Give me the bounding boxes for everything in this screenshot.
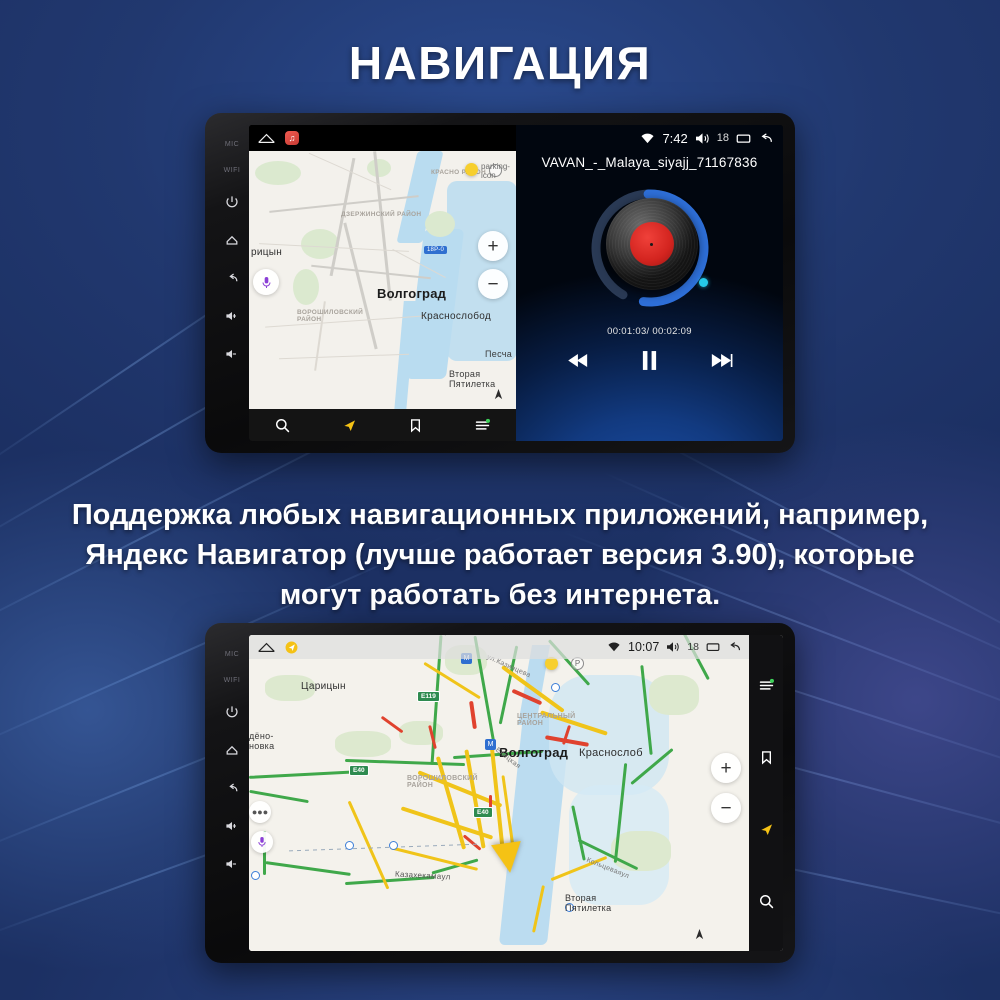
microphone-icon	[261, 276, 272, 289]
compass-icon[interactable]	[694, 928, 705, 941]
music-app-icon[interactable]: ♫	[285, 131, 299, 145]
disc-hole	[650, 243, 653, 246]
back-button[interactable]	[215, 259, 249, 297]
park-area	[335, 731, 391, 757]
menu-icon[interactable]	[758, 677, 775, 694]
volume-down-button[interactable]	[215, 845, 249, 883]
clock-label: 7:42	[662, 131, 687, 146]
district-label-central: ЦЕНТРАЛЬНЫЙ РАЙОН	[517, 713, 571, 727]
screen-bottom: Царицын дёно-новка ВОРОШИЛОВСКИЙ РАЙОН Ц…	[249, 635, 783, 951]
district-label-voroshilovsky: ВОРОШИЛОВСКИЙ РАЙОН	[297, 309, 371, 323]
menu-icon[interactable]	[474, 417, 491, 434]
wifi-led: WIFI	[215, 667, 249, 693]
track-title: VAVAN_-_Malaya_siyajj_71167836	[542, 155, 758, 170]
park-area	[611, 831, 671, 871]
back-icon[interactable]	[727, 641, 741, 653]
disc-label	[630, 222, 674, 266]
label-sadenovka: дёно-новка	[249, 731, 289, 752]
ring-marker	[389, 841, 398, 850]
volume-up-button[interactable]	[215, 297, 249, 335]
speaker-icon	[695, 132, 710, 145]
search-icon[interactable]	[274, 417, 291, 434]
power-button[interactable]	[215, 183, 249, 221]
navigator-app-icon[interactable]	[285, 641, 298, 654]
road-shield-e119: E119	[417, 691, 440, 702]
metro-icon: M	[485, 739, 496, 750]
map-canvas-bottom[interactable]: Царицын дёно-новка ВОРОШИЛОВСКИЙ РАЙОН Ц…	[249, 635, 749, 951]
poi-marker[interactable]	[465, 163, 478, 176]
city-label-volgograd: Волгоград	[377, 286, 446, 301]
current-position-arrow	[491, 841, 525, 875]
park-area	[367, 159, 391, 177]
navigator-fullscreen: Царицын дёно-новка ВОРОШИЛОВСКИЙ РАЙОН Ц…	[249, 635, 783, 951]
road-shield: 18Р-0	[424, 246, 447, 254]
road	[343, 223, 377, 350]
device-side-rail-bottom: MIC WIFI	[215, 635, 249, 951]
town-label-krasnoslobodsk: Краснослобод	[421, 311, 491, 322]
power-button[interactable]	[215, 693, 249, 731]
park-area	[649, 675, 699, 715]
pause-button[interactable]	[641, 350, 658, 371]
navigation-arrow-icon[interactable]	[758, 821, 775, 838]
vinyl-disc	[606, 198, 698, 290]
home-button[interactable]	[215, 221, 249, 259]
volume-up-button[interactable]	[215, 807, 249, 845]
volume-down-button[interactable]	[215, 335, 249, 373]
label-pyatiletka: Вторая Пятилетка	[565, 893, 619, 914]
navigation-arrow-icon[interactable]	[341, 417, 358, 434]
zoom-out-button[interactable]: −	[711, 793, 741, 823]
label-pyatiletka: Вторая Пятилетка	[449, 369, 501, 390]
road-shield-e40: E40	[349, 765, 369, 776]
speaker-icon	[666, 641, 680, 653]
page-title: НАВИГАЦИЯ	[0, 36, 1000, 90]
home-icon[interactable]	[257, 641, 276, 654]
head-unit-device-top: MIC WIFI ♫	[205, 113, 795, 453]
voice-search-button[interactable]	[253, 269, 279, 295]
android-statusbar-bottom: 10:07 18	[249, 635, 749, 659]
zoom-out-button[interactable]: −	[478, 269, 508, 299]
player-controls	[565, 350, 734, 371]
bookmark-icon[interactable]	[407, 417, 424, 434]
next-button[interactable]	[710, 352, 734, 369]
mic-led: MIC	[215, 641, 249, 667]
voice-search-button[interactable]	[251, 831, 273, 853]
zoom-in-button[interactable]: +	[711, 753, 741, 783]
search-icon[interactable]	[758, 893, 775, 910]
map-canvas-top[interactable]: ДЗЕРЖИНСКИЙ РАЙОН ВОРОШИЛОВСКИЙ РАЙОН КР…	[249, 151, 516, 409]
previous-button[interactable]	[565, 352, 589, 369]
playback-time: 00:01:03/ 00:02:09	[607, 326, 692, 337]
screen-top: ♫	[249, 125, 783, 441]
road-shield-e40-2: E40	[473, 807, 493, 818]
volume-level: 18	[687, 641, 699, 653]
android-topbar-top: ♫	[249, 125, 516, 151]
parking-icon[interactable]: parking-icon	[489, 164, 502, 177]
progress-knob[interactable]	[699, 278, 708, 287]
android-statusbar-top: 7:42 18	[640, 125, 783, 151]
district-label-dzerzhinsky: ДЗЕРЖИНСКИЙ РАЙОН	[341, 211, 421, 218]
road	[279, 354, 409, 360]
ring-marker	[345, 841, 354, 850]
bookmark-icon[interactable]	[758, 749, 775, 766]
music-player-pane: VAVAN_-_Malaya_siyajj_71167836 00:01:03/…	[516, 125, 783, 441]
label-tsaritsyn: Царицын	[301, 681, 346, 692]
park-area	[399, 721, 443, 745]
description-text: Поддержка любых навигационных приложений…	[60, 495, 940, 615]
mic-led: MIC	[215, 131, 249, 157]
home-icon[interactable]	[257, 132, 276, 145]
volume-level: 18	[717, 132, 729, 144]
home-button[interactable]	[215, 731, 249, 769]
clock-label: 10:07	[628, 640, 659, 654]
music-player: VAVAN_-_Malaya_siyajj_71167836 00:01:03/…	[516, 125, 783, 441]
recents-icon[interactable]	[736, 132, 751, 145]
zoom-in-button[interactable]: +	[478, 231, 508, 261]
wifi-icon	[640, 132, 655, 145]
ring-marker	[551, 683, 560, 692]
label-peschanka: Песча	[485, 349, 512, 359]
town-label-krasnoslobodsk: Краснослоб	[579, 747, 643, 759]
album-disc-area[interactable]	[584, 182, 716, 314]
head-unit-device-bottom: MIC WIFI	[205, 623, 795, 963]
ring-marker	[251, 871, 260, 880]
park-area	[425, 211, 455, 237]
back-icon[interactable]	[758, 132, 773, 145]
district-label-voroshilovsky: ВОРОШИЛОВСКИЙ РАЙОН	[407, 775, 489, 789]
navigator-sidebar	[749, 635, 783, 951]
navigator-pane: ♫	[249, 125, 516, 441]
wifi-icon	[607, 641, 621, 653]
recents-icon[interactable]	[706, 641, 720, 653]
back-button[interactable]	[215, 769, 249, 807]
park-area	[255, 161, 301, 185]
compass-icon[interactable]	[493, 388, 504, 401]
river-east	[447, 181, 516, 361]
chat-bubble-icon[interactable]: ●●●	[249, 801, 271, 823]
wifi-led: WIFI	[215, 157, 249, 183]
park-area	[293, 269, 319, 305]
device-side-rail-top: MIC WIFI	[215, 125, 249, 441]
microphone-icon	[257, 836, 267, 848]
label-tsaritsyn: рицын	[251, 247, 282, 258]
navigator-bottombar	[249, 409, 516, 441]
